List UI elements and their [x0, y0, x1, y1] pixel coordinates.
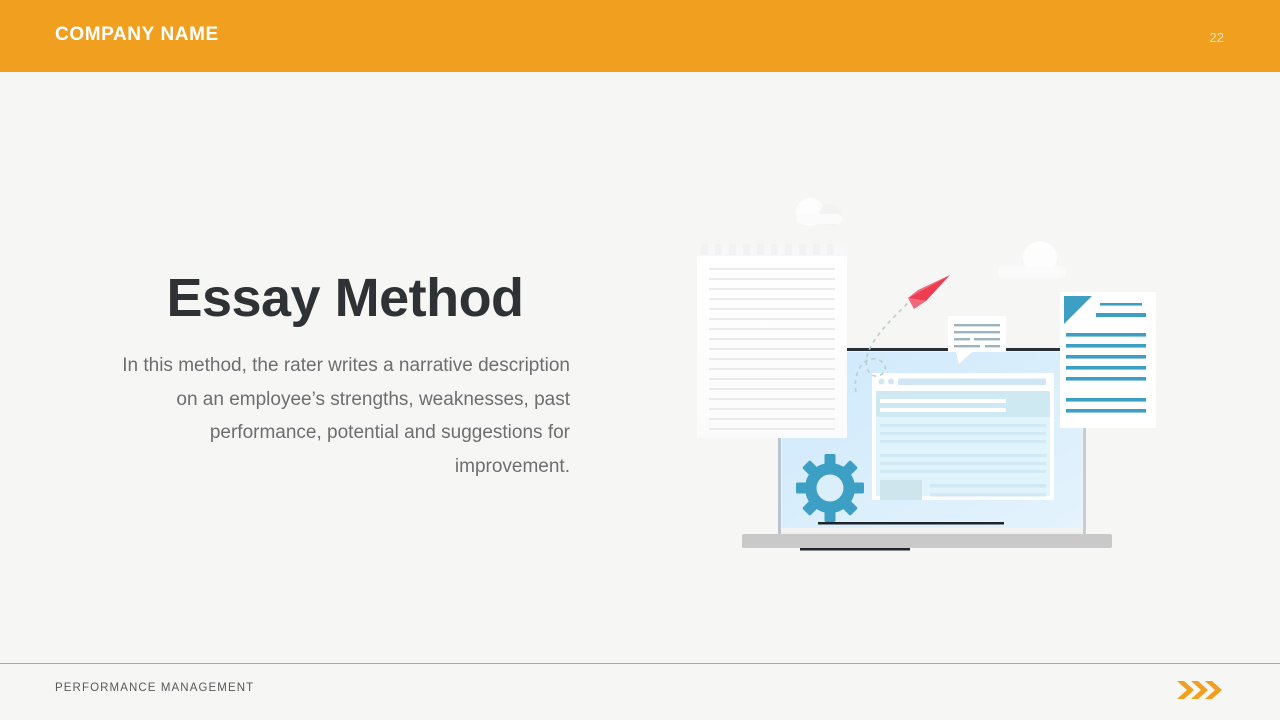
- body-paragraph: In this method, the rater writes a narra…: [120, 349, 570, 484]
- laptop-documents-illustration: [660, 170, 1180, 570]
- paper-plane-icon: [908, 275, 950, 309]
- cloud-small-icon: [796, 198, 842, 226]
- footer-divider: [0, 663, 1280, 664]
- content-text-block: Essay Method In this method, the rater w…: [120, 270, 570, 484]
- slide-header: COMPANY NAME 22: [0, 0, 1280, 72]
- page-title: Essay Method: [120, 270, 570, 327]
- page-number: 22: [1210, 30, 1224, 45]
- footer-label: PERFORMANCE MANAGEMENT: [55, 682, 254, 694]
- notepad-icon: [697, 244, 847, 438]
- company-name: COMPANY NAME: [55, 24, 219, 46]
- double-chevron-right-icon[interactable]: [1175, 675, 1225, 705]
- slide: COMPANY NAME 22 Essay Method In this met…: [0, 0, 1280, 720]
- cloud-large-icon: [998, 241, 1066, 279]
- document-icon: [1060, 292, 1156, 428]
- browser-window-mockup: [872, 373, 1054, 500]
- gear-icon: [796, 454, 864, 522]
